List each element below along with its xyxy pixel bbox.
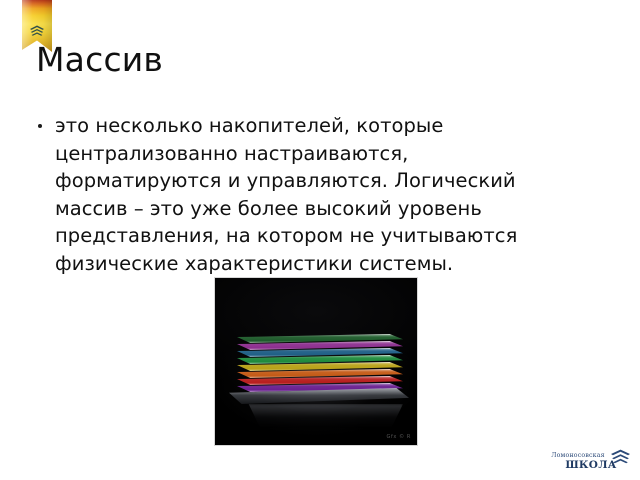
bullet-marker-icon (33, 112, 55, 128)
list-item: это несколько накопителей, которые центр… (33, 112, 593, 278)
school-name-bottom: ШКОЛА (560, 460, 622, 471)
stacked-drives-photo: Gfx © R (214, 277, 418, 446)
body-bullet-list: это несколько накопителей, которые центр… (33, 112, 593, 278)
school-logo: Ломоносовская ШКОЛА (548, 449, 632, 475)
drive-stack-reflection (237, 404, 403, 428)
slide-canvas: Массив это несколько накопителей, которы… (0, 0, 640, 480)
photo-background: Gfx © R (215, 278, 417, 445)
school-name-top: Ломоносовская (548, 452, 608, 459)
school-crest-icon (29, 24, 45, 38)
page-title: Массив (36, 40, 163, 80)
drive-stack (237, 334, 403, 396)
photo-watermark: Gfx © R (387, 434, 411, 440)
bullet-text: это несколько накопителей, которые центр… (55, 112, 575, 278)
